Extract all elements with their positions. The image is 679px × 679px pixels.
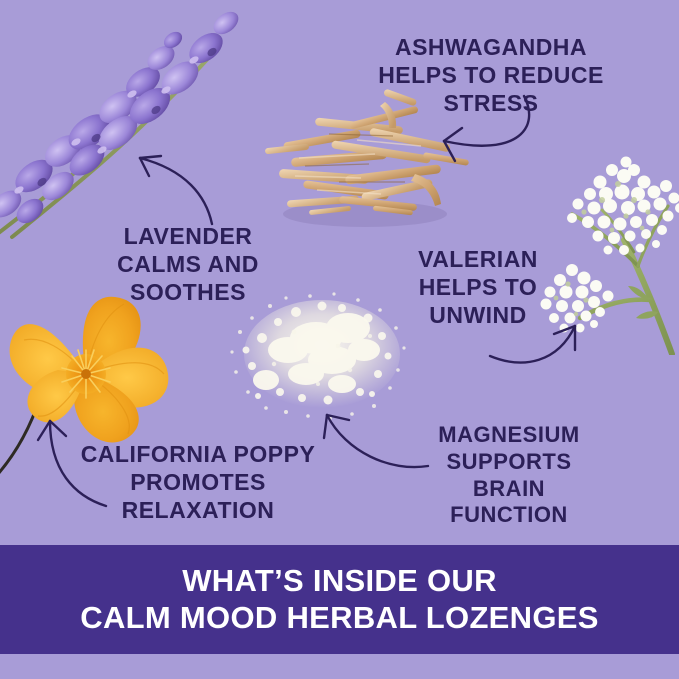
arrow-to-magnesium-icon [324, 415, 428, 467]
bottom-banner: WHAT’S INSIDE OUR CALM MOOD HERBAL LOZEN… [0, 545, 679, 654]
callout-label-magnesium: MAGNESIUM SUPPORTS BRAIN FUNCTION [414, 422, 604, 529]
valerian-flowers-image [538, 140, 679, 355]
callout-label-ashwagandha: ASHWAGANDHA HELPS TO REDUCE STRESS [338, 33, 644, 117]
arrow-to-lavender-icon [140, 156, 212, 224]
callout-label-lavender: LAVENDER CALMS AND SOOTHES [60, 222, 316, 306]
banner-headline: WHAT’S INSIDE OUR CALM MOOD HERBAL LOZEN… [80, 563, 598, 636]
callout-label-valerian: VALERIAN HELPS TO UNWIND [398, 245, 558, 329]
product-ingredients-poster: ASHWAGANDHA HELPS TO REDUCE STRESS LAVEN… [0, 0, 679, 679]
arrow-to-valerian-icon [490, 326, 575, 363]
callout-label-california-poppy: CALIFORNIA POPPY PROMOTES RELAXATION [62, 440, 334, 524]
magnesium-powder-image [222, 288, 422, 448]
lavender-sprigs-image [0, 0, 250, 240]
